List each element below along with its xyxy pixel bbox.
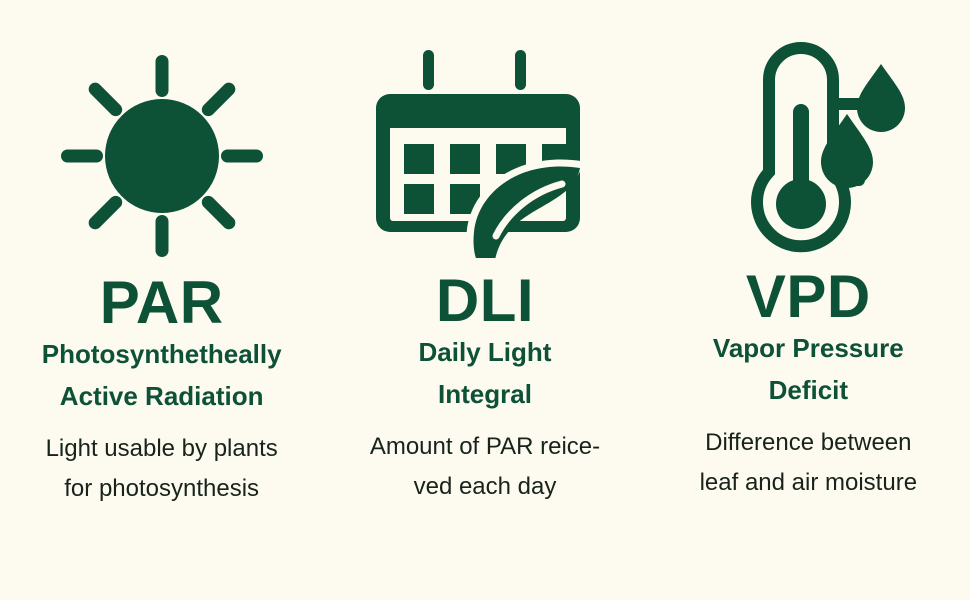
acronym-vpd: VPD [746, 266, 871, 328]
concept-column-par: PAR Photosynthetheally Active Radiation … [0, 0, 323, 508]
sun-icon [55, 40, 269, 272]
full-name-par: Photosynthetheally Active Radiation [42, 334, 282, 417]
concept-column-dli: DLI Daily Light Integral Amount of PAR r… [323, 0, 646, 506]
acronym-dli: DLI [436, 270, 534, 332]
infographic-root: PAR Photosynthetheally Active Radiation … [0, 0, 970, 600]
full-name-dli: Daily Light Integral [419, 332, 552, 415]
concept-column-vpd: VPD Vapor Pressure Deficit Difference be… [647, 0, 970, 502]
full-name-vpd: Vapor Pressure Deficit [713, 328, 904, 411]
description-par: Light usable by plants for photosynthesi… [46, 417, 278, 508]
calendar-leaf-icon [376, 38, 594, 270]
description-dli: Amount of PAR reice- ved each day [370, 415, 600, 506]
thermometer-droplets-icon [703, 34, 913, 266]
description-vpd: Difference between leaf and air moisture [700, 411, 917, 502]
acronym-par: PAR [100, 272, 224, 334]
